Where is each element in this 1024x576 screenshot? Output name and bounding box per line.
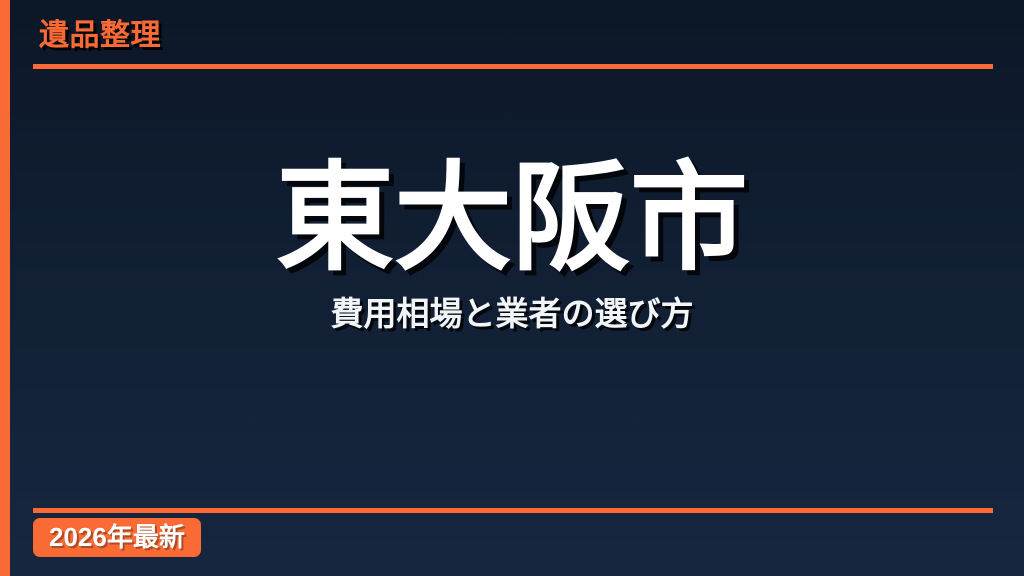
footer: 2026年最新 <box>33 508 993 570</box>
page-title: 東大阪市 <box>276 150 748 289</box>
page-subtitle: 費用相場と業者の選び方 <box>331 293 694 336</box>
header-divider-rule <box>33 64 993 69</box>
category-eyebrow: 遺品整理 <box>39 14 161 58</box>
status-badge: 2026年最新 <box>33 518 201 557</box>
main-content: 東大阪市 費用相場と業者の選び方 <box>0 150 1024 410</box>
footer-divider-rule <box>33 508 993 513</box>
header: 遺品整理 <box>33 14 993 70</box>
title-slide: 遺品整理 東大阪市 費用相場と業者の選び方 2026年最新 <box>0 0 1024 576</box>
